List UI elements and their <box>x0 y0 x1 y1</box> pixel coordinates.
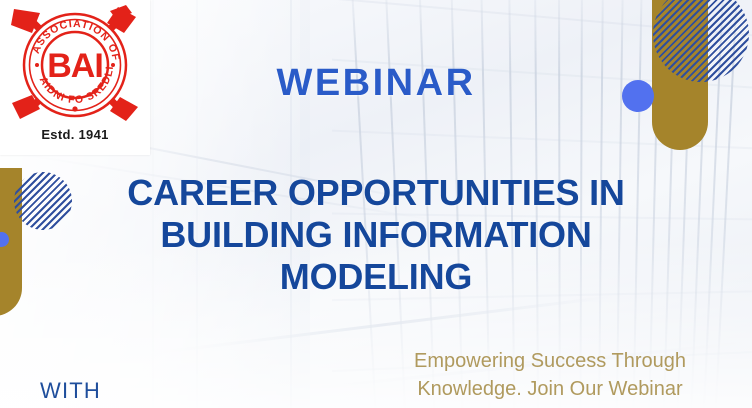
with-label: WITH <box>40 378 101 404</box>
headline-line-2: BUILDING INFORMATION <box>36 214 716 256</box>
headline-line-3: MODELING <box>36 256 716 298</box>
logo-established-text: Estd. 1941 <box>41 127 108 142</box>
tagline-line-2: Knowledge. Join Our Webinar <box>370 375 730 403</box>
webinar-poster: ASSOCIATION OF AIDNI FO SREDLIUB BAI Est… <box>0 0 752 408</box>
webinar-kicker: WEBINAR <box>0 62 752 105</box>
headline-line-1: CAREER OPPORTUNITIES IN <box>36 172 716 214</box>
tagline-line-1: Empowering Success Through <box>370 347 730 375</box>
tagline: Empowering Success Through Knowledge. Jo… <box>370 347 730 403</box>
page-title: CAREER OPPORTUNITIES IN BUILDING INFORMA… <box>36 172 716 298</box>
